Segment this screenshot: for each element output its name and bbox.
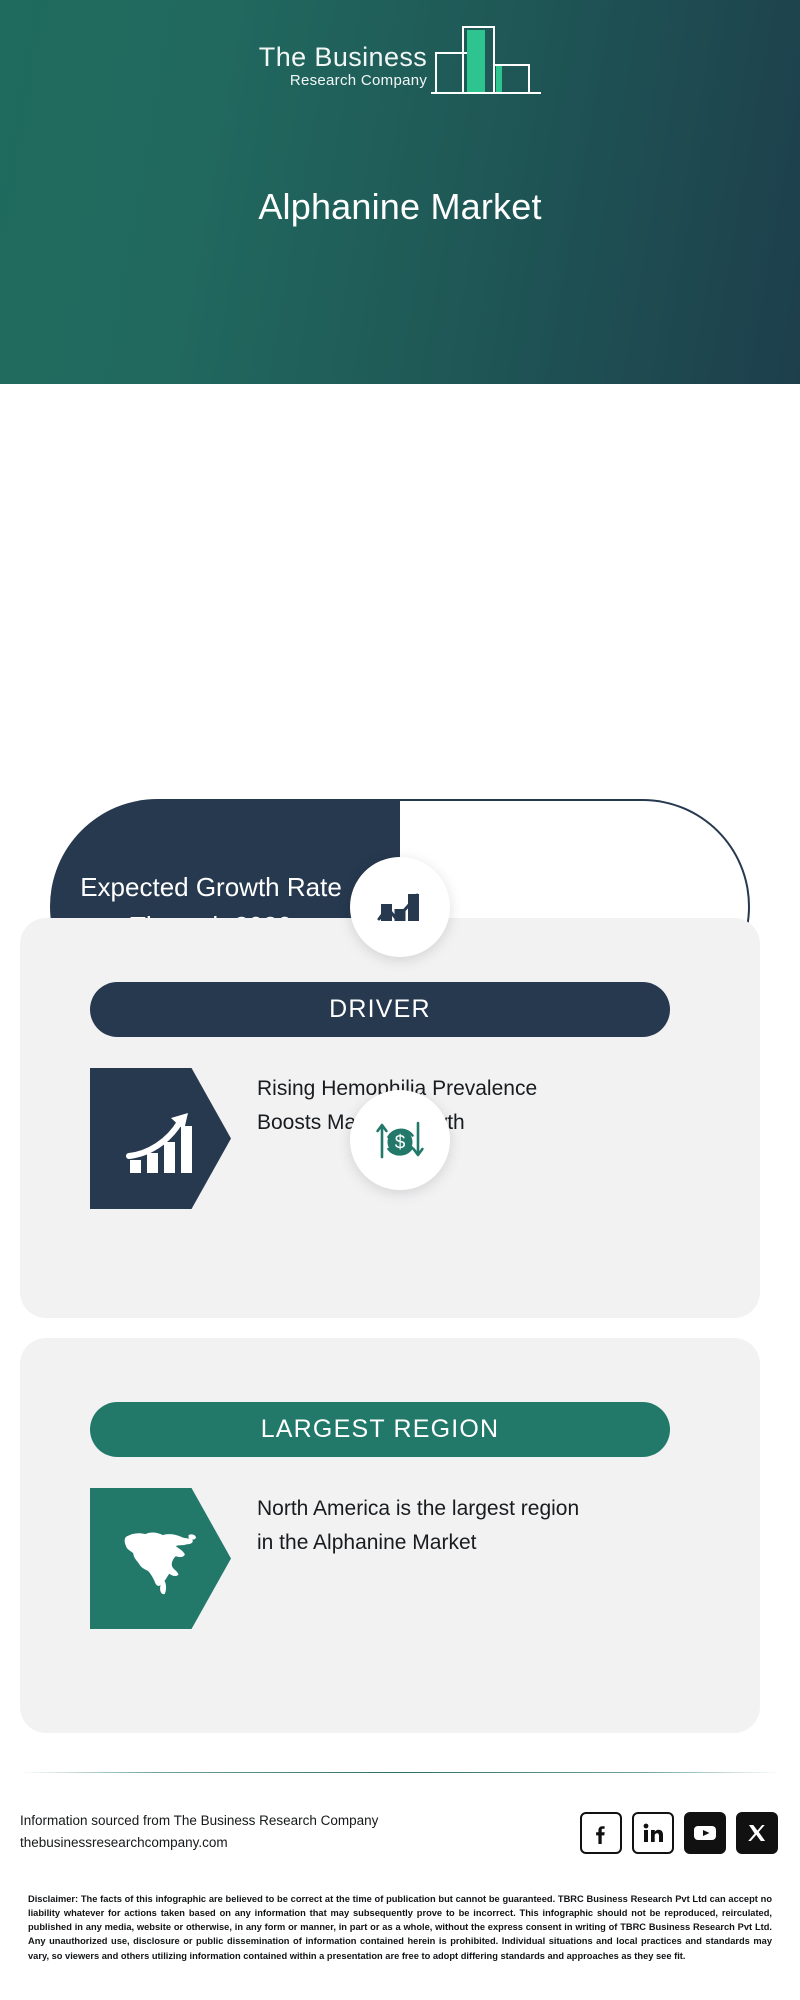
dollar-circular-arrows-icon: $	[350, 1090, 450, 1190]
infographic-page: The Business Research Company Alphanine …	[0, 0, 800, 2000]
region-text: North America is the largest region in t…	[257, 1488, 587, 1629]
logo-line-primary: The Business	[259, 43, 427, 71]
facebook-icon[interactable]	[580, 1812, 622, 1854]
disclaimer-text: Disclaimer: The facts of this infographi…	[28, 1892, 772, 1963]
social-links	[580, 1812, 778, 1854]
footer-divider	[20, 1772, 780, 1773]
youtube-icon[interactable]	[684, 1812, 726, 1854]
footer-source-line: Information sourced from The Business Re…	[20, 1810, 378, 1832]
linkedin-icon[interactable]	[632, 1812, 674, 1854]
north-america-map-icon	[90, 1488, 231, 1629]
logo-line-secondary: Research Company	[290, 72, 427, 90]
footer-website[interactable]: thebusinessresearchcompany.com	[20, 1832, 378, 1854]
ascending-bars-arrow-icon	[90, 1068, 231, 1209]
footer-source-block: Information sourced from The Business Re…	[20, 1810, 378, 1854]
svg-text:$: $	[395, 1132, 406, 1153]
page-title: Alphanine Market	[0, 186, 800, 228]
largest-region-card: LARGEST REGION North America is the larg…	[20, 1338, 760, 1733]
bar-chart-logo-icon	[431, 22, 541, 94]
largest-region-tag: LARGEST REGION	[90, 1402, 670, 1457]
company-logo: The Business Research Company	[0, 22, 800, 94]
driver-tag: DRIVER	[90, 982, 670, 1037]
header-banner: The Business Research Company Alphanine …	[0, 0, 800, 384]
x-twitter-icon[interactable]	[736, 1812, 778, 1854]
footer: Information sourced from The Business Re…	[0, 1790, 800, 1890]
region-content-row: North America is the largest region in t…	[90, 1488, 720, 1629]
growth-chart-arrow-icon	[350, 857, 450, 957]
